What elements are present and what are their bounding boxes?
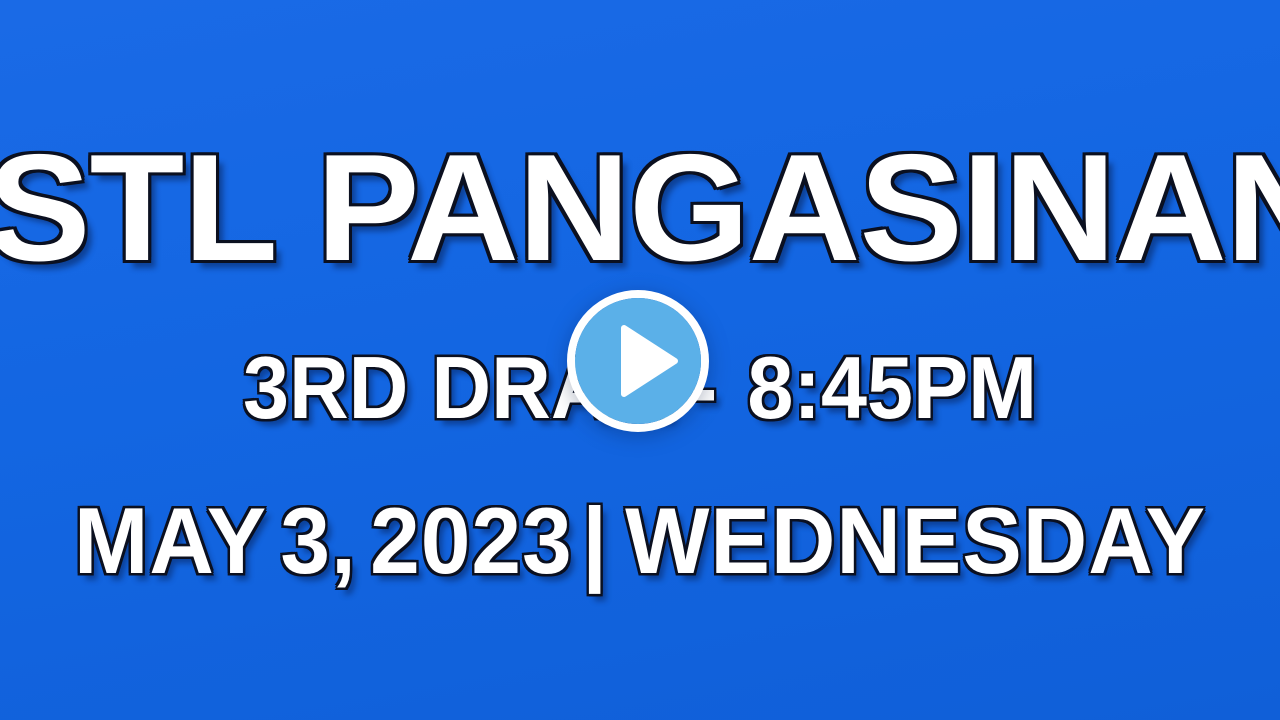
page-title: STL PANGASINAN	[0, 132, 1280, 284]
date-separator: |	[582, 488, 608, 593]
play-button[interactable]	[567, 290, 709, 432]
date-day: 3,	[280, 488, 356, 593]
video-thumbnail-stage: STL PANGASINAN 3RD DRAW-8:45PM MAY3,2023…	[0, 0, 1280, 720]
date-year: 2023	[370, 488, 572, 593]
date-weekday: WEDNESDAY	[625, 488, 1206, 593]
date-month: MAY	[74, 488, 267, 593]
play-icon	[567, 290, 709, 432]
draw-time-label: 8:45PM	[747, 338, 1037, 437]
date-line: MAY3,2023|WEDNESDAY	[32, 494, 1248, 588]
